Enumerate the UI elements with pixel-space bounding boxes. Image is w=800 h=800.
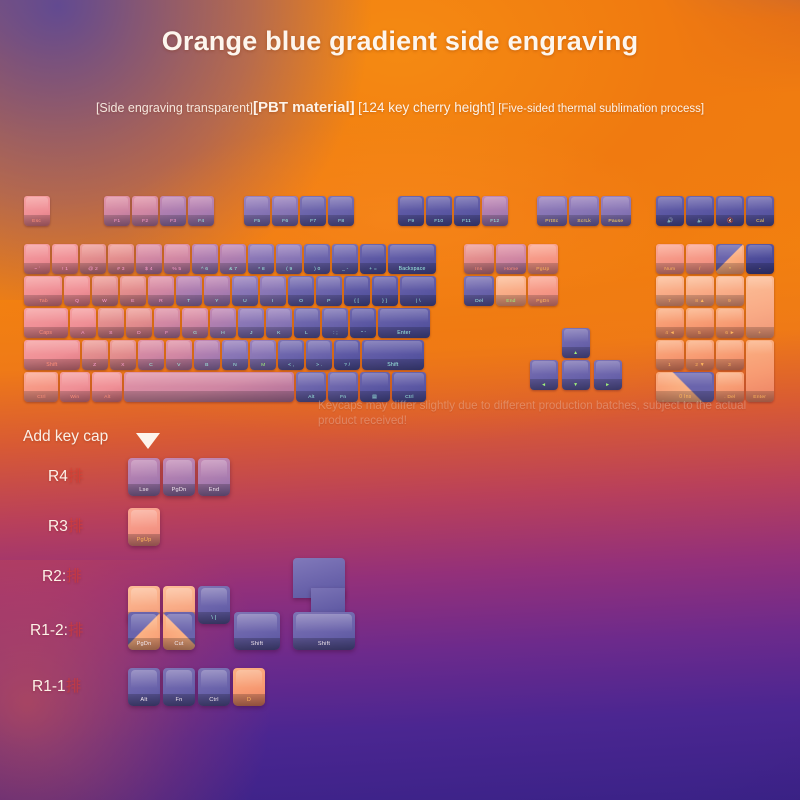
keycap-top-face — [364, 341, 422, 360]
keycap-caps: Caps — [24, 308, 68, 338]
keycap-top-face — [400, 197, 422, 216]
keycap-t: T — [176, 276, 202, 306]
keycap-legend: H — [221, 330, 225, 336]
keycap-legend: * — [729, 266, 731, 272]
keycap-top-face — [688, 341, 712, 360]
keycap-legend: PgUp — [137, 537, 152, 543]
keycap-front-engraving: W — [92, 295, 118, 306]
keycap-front-engraving: E — [120, 295, 146, 306]
keycap-legend: D — [137, 330, 141, 336]
keycap-legend: # 3 — [117, 266, 125, 272]
keycap-e: E — [120, 276, 146, 306]
keycap-l: L — [294, 308, 320, 338]
keycap-front-engraving: ) 0 — [304, 263, 330, 274]
key-row-esc: Esc — [24, 196, 52, 226]
keycap-top-face — [62, 373, 88, 392]
keycap-legend: Q — [75, 298, 79, 304]
keycap-top-face — [26, 277, 60, 296]
keycap-: / — [686, 244, 714, 274]
keycap-top-face — [571, 197, 597, 216]
keycap-2: @ 2 — [80, 244, 106, 274]
keycap-j: J — [238, 308, 264, 338]
keycap-top-face — [308, 341, 330, 360]
keycap-top-face — [352, 309, 374, 328]
keycap-top-face — [168, 341, 190, 360]
keycap-front-engraving: / — [686, 263, 714, 274]
keycap-arrow-down-icon: ▼ — [562, 360, 590, 390]
keycap-front-engraving: 5 — [686, 327, 714, 338]
keycap-top-face — [166, 614, 192, 638]
keycap-legend: Lse — [139, 487, 149, 493]
keycap-front-engraving: ( 9 — [276, 263, 302, 274]
keycap-front-engraving: - — [746, 263, 774, 274]
keycap-top-face — [390, 245, 434, 264]
keycap-top-face — [131, 460, 157, 484]
keycap-pgdn: PgDn — [528, 276, 558, 306]
keycap-front-engraving: & 7 — [220, 263, 246, 274]
keycap-: + = — [360, 244, 386, 274]
sample-row-label: R3排 — [48, 514, 83, 536]
keycap-legend: Shift — [46, 362, 57, 368]
keycap-win: Win — [60, 372, 90, 402]
keycap-top-face — [162, 197, 184, 216]
keycap-front-engraving: Ctrl — [198, 694, 230, 706]
keycap-front-engraving: F9 — [398, 215, 424, 226]
keycap-legend: W — [103, 298, 108, 304]
keycap-front-engraving: ► — [594, 379, 622, 390]
keycap-f10: F10 — [426, 196, 452, 226]
sample-keycap-group: AltFnCtrlD — [128, 668, 268, 706]
keycap-front-engraving: Shift — [293, 638, 355, 650]
keycap-legend: Shift — [387, 362, 398, 368]
keycap-legend: Alt — [104, 394, 110, 400]
keycap-: : ; — [322, 308, 348, 338]
keycap-top-face — [166, 588, 192, 612]
keycap-front-engraving: R — [148, 295, 174, 306]
keycap-top-face — [346, 277, 368, 296]
keycap-top-face — [394, 373, 424, 392]
keycap-enter: Enter — [746, 340, 774, 402]
sample-row-label-suffix: 排 — [66, 678, 82, 695]
keycap-top-face — [336, 341, 358, 360]
key-row-numpad-4: 12 ▼3 — [656, 340, 746, 370]
keycap-5: % 5 — [164, 244, 190, 274]
keycap-volume-down-icon: 🔉 — [686, 196, 714, 226]
keycap-top-face — [206, 277, 228, 296]
sample-keycap-fn: Fn — [163, 668, 195, 706]
keycap-front-engraving: F8 — [328, 215, 354, 226]
keycap-legend: F12 — [490, 218, 499, 224]
sample-keycap-pgdn: PgDn — [163, 458, 195, 496]
keycap-6: ^ 6 — [192, 244, 218, 274]
keycap-top-face — [201, 670, 227, 694]
key-row-nav-top: InsHomePgUp — [464, 244, 560, 274]
keycap-top-face — [298, 373, 324, 392]
keycap-del: Del — [464, 276, 494, 306]
keycap-: - — [746, 244, 774, 274]
keycap-front-engraving: Esc — [24, 215, 50, 226]
sample-row-label-suffix: 排 — [68, 468, 84, 485]
keycap-legend: ( 9 — [286, 266, 292, 272]
keycap-top-face — [334, 245, 356, 264]
keycap-front-engraving: 🔇 — [716, 215, 744, 226]
keycap-f6: F6 — [272, 196, 298, 226]
sample-keycap-shift: Shift — [234, 612, 280, 650]
keycap-c: C — [138, 340, 164, 370]
keycap-top-face — [484, 197, 506, 216]
keycap-v: V — [166, 340, 192, 370]
keycap-top-face — [138, 245, 160, 264]
keycap-top-face — [166, 670, 192, 694]
keycap-front-engraving: Q — [64, 295, 90, 306]
keycap-top-face — [222, 245, 244, 264]
keycap-legend: F — [165, 330, 168, 336]
keycap-front-engraving: Cut — [163, 638, 195, 650]
sample-keycap-ctrl: Ctrl — [198, 668, 230, 706]
keycap-top-face — [110, 245, 132, 264]
caret-down-icon[interactable] — [136, 433, 160, 449]
keycap-legend: Backspace — [398, 266, 425, 272]
keycap-front-engraving: 9 — [716, 295, 744, 306]
keycap-front-engraving: Enter — [378, 327, 430, 338]
keycap-front-engraving: Num — [656, 263, 684, 274]
keycap-top-face — [748, 197, 772, 216]
keycap-g: G — [182, 308, 208, 338]
keycap-legend: 8 ▲ — [695, 298, 705, 304]
keycap-enter: Enter — [378, 308, 430, 338]
keycap-front-engraving: @ 2 — [80, 263, 106, 274]
sample-keycap-d: D — [233, 668, 265, 706]
keycap-top-face — [94, 277, 116, 296]
keycap-top-face — [466, 277, 492, 296]
add-keycap-label: Add key cap — [23, 428, 108, 446]
keycap-front-engraving: F2 — [132, 215, 158, 226]
keycap-top-face — [106, 197, 128, 216]
keycap-legend: C — [149, 362, 153, 368]
keycap-legend: I — [272, 298, 274, 304]
keycap-3: # 3 — [108, 244, 134, 274]
keycap-front-engraving: ? / — [334, 359, 360, 370]
keycap-top-face — [131, 588, 157, 612]
keycap-front-engraving: C — [138, 359, 164, 370]
keycap-legend: O — [299, 298, 303, 304]
keycap-front-engraving: Del — [464, 295, 494, 306]
keycap-top-face — [250, 245, 272, 264]
keycap-legend: { [ — [354, 298, 359, 304]
keycap-legend: * 8 — [258, 266, 265, 272]
keycap-top-face — [66, 277, 88, 296]
keycap-top-face — [252, 341, 274, 360]
keycap-7: & 7 — [220, 244, 246, 274]
keycap-front-engraving: Shift — [24, 359, 80, 370]
keycap-2: 2 ▼ — [686, 340, 714, 370]
keycap-: " ' — [350, 308, 376, 338]
keycap-top-face — [718, 373, 742, 392]
keycap-: ? / — [334, 340, 360, 370]
keycap-front-engraving: Pause — [601, 215, 631, 226]
keycap-front-engraving: PrtSc — [537, 215, 567, 226]
keycap-legend: < , — [288, 362, 294, 368]
keycap-front-engraving: I — [260, 295, 286, 306]
keycap-top-face — [532, 361, 556, 380]
keycap-top-face — [126, 373, 292, 392]
keycap-front-engraving: Tab — [24, 295, 62, 306]
keycap-legend: M — [261, 362, 265, 368]
keycap-x: X — [110, 340, 136, 370]
keycap-top-face — [131, 614, 157, 638]
keycap-top-face — [194, 245, 216, 264]
keycap-top-face — [278, 245, 300, 264]
keycap-f9: F9 — [398, 196, 424, 226]
keycap-front-engraving: F — [154, 327, 180, 338]
keycap-shift: Shift — [24, 340, 80, 370]
keycap-top-face — [234, 277, 256, 296]
keycap-top-face — [262, 277, 284, 296]
keycap-front-engraving: 2 ▼ — [686, 359, 714, 370]
sample-keycap-group: LsePgDnEnd — [128, 458, 233, 496]
keycap-front-engraving: < , — [278, 359, 304, 370]
keycap-m: M — [250, 340, 276, 370]
keycap-legend: E — [131, 298, 135, 304]
keycap-top-face — [688, 277, 712, 296]
keycap-legend: 3 — [729, 362, 732, 368]
keycap-top-face — [190, 197, 212, 216]
key-row-numbers: ~ `! 1@ 2# 3$ 4% 5^ 6& 7* 8( 9) 0_ -+ =B… — [24, 244, 438, 274]
keycap-legend: ? / — [344, 362, 350, 368]
keycap-: } ] — [372, 276, 398, 306]
keycap-legend: F4 — [198, 218, 204, 224]
keycap-front-engraving: Z — [82, 359, 108, 370]
sample-keycap-pgdn: PgDn — [128, 612, 160, 650]
keycap-arrow-up-icon: ▲ — [562, 328, 590, 358]
keycap-f3: F3 — [160, 196, 186, 226]
keycap-front-engraving: N — [222, 359, 248, 370]
keycap-front-engraving: ▲ — [562, 347, 590, 358]
sample-keycap-group: PgDnCutShiftShift — [128, 612, 358, 650]
key-numpad-plus: + — [746, 276, 776, 338]
keycap-top-face — [688, 197, 712, 216]
keycap-legend: % 5 — [172, 266, 181, 272]
keycap-front-engraving: Shift — [234, 638, 280, 650]
key-row-numpad-3: 4 ◄56 ► — [656, 308, 746, 338]
keycap-legend: Tab — [39, 298, 48, 304]
sample-keycap-cut: Cut — [163, 612, 195, 650]
keycap-front-engraving: F12 — [482, 215, 508, 226]
keycap-front-engraving: PgDn — [128, 638, 160, 650]
keycap-top-face — [140, 341, 162, 360]
keycap-top-face — [166, 245, 188, 264]
keycap-legend: _ - — [342, 266, 348, 272]
keycap-front-engraving: PgUp — [128, 534, 160, 546]
keycap-front-engraving — [124, 391, 294, 402]
keycap-front-engraving: $ 4 — [136, 263, 162, 274]
keycap-legend: 9 — [729, 298, 732, 304]
keycap-: < , — [278, 340, 304, 370]
keycap-legend: End — [209, 487, 220, 493]
keycap-front-engraving: F3 — [160, 215, 186, 226]
keycap-legend: S — [109, 330, 113, 336]
keycap-front-engraving: Fn — [163, 694, 195, 706]
keycap-top-face — [564, 329, 588, 348]
keycap-top-face — [196, 341, 218, 360]
keycap-top-face — [131, 510, 157, 534]
keycap-top-face — [658, 245, 682, 264]
keycap-tab: Tab — [24, 276, 62, 306]
sample-row-label: R1-2:排 — [30, 618, 83, 640]
keycap-top-face — [184, 309, 206, 328]
keycap-0: ) 0 — [304, 244, 330, 274]
keycap-f: F — [154, 308, 180, 338]
keycap-front-engraving: * — [716, 263, 744, 274]
keycap-legend: Shift — [251, 641, 263, 647]
keycap-front-engraving: " ' — [350, 327, 376, 338]
keycap-front-engraving: 7 — [656, 295, 684, 306]
keycap-9: 9 — [716, 276, 744, 306]
keycap-front-engraving: T — [176, 295, 202, 306]
keycap-front-engraving: : ; — [322, 327, 348, 338]
keycap-top-face — [128, 309, 150, 328]
keycap-legend: ) 0 — [314, 266, 320, 272]
keycap-blank — [124, 372, 294, 402]
keycap-top-face — [658, 341, 682, 360]
keycap-top-face — [26, 373, 56, 392]
keycap-legend: ~ ` — [34, 266, 41, 272]
keycap-esc: Esc — [24, 196, 50, 226]
keycap-top-face — [26, 341, 78, 360]
keycap-legend: } ] — [382, 298, 387, 304]
keycap-f2: F2 — [132, 196, 158, 226]
keycap-front-engraving: 6 ► — [716, 327, 744, 338]
keycap-front-engraving: Lse — [128, 484, 160, 496]
keycap-top-face — [268, 309, 290, 328]
keycap-legend: Esc — [33, 218, 42, 224]
keycap-front-engraving: Shift — [362, 359, 424, 370]
keycap-legend: F7 — [310, 218, 316, 224]
keycap-front-engraving: 8 ▲ — [686, 295, 714, 306]
keycap-r: R — [148, 276, 174, 306]
keycap-front-engraving: F1 — [104, 215, 130, 226]
keycap-legend: A — [81, 330, 85, 336]
keycap-front-engraving: PgDn — [528, 295, 558, 306]
sample-keycap-group: PgUp — [128, 508, 163, 546]
key-row-numpad-1: Num/*- — [656, 244, 776, 274]
keycap-front-engraving: + — [746, 327, 774, 338]
keycap-legend: F6 — [282, 218, 288, 224]
keycap-front-engraving: * 8 — [248, 263, 274, 274]
keycap-top-face — [131, 670, 157, 694]
keycap-front-engraving: 🔉 — [686, 215, 714, 226]
keycap-legend: PgDn — [536, 298, 549, 304]
keycap-top-face — [240, 309, 262, 328]
keycap-top-face — [718, 197, 742, 216]
keycap-top-face — [246, 197, 268, 216]
keycap-1: 1 — [656, 340, 684, 370]
keycap-k: K — [266, 308, 292, 338]
keycap-front-engraving: J — [238, 327, 264, 338]
keycap-front-engraving: 1 — [656, 359, 684, 370]
keycap-volume-mute-icon: 🔇 — [716, 196, 744, 226]
keycap-legend: PgDn — [172, 487, 187, 493]
keycap-8: 8 ▲ — [686, 276, 714, 306]
keycap-top-face — [100, 309, 122, 328]
keycap-legend: Ctrl — [37, 394, 46, 400]
keycap-legend: + — [758, 330, 761, 336]
keycap-legend: G — [193, 330, 197, 336]
keycap-f4: F4 — [188, 196, 214, 226]
keycap-legend: : ; — [333, 330, 338, 336]
keycap-legend: 2 ▼ — [695, 362, 705, 368]
keycap-calculator-icon: Cal — [746, 196, 774, 226]
keycap-top-face — [166, 460, 192, 484]
keycap-legend: F11 — [463, 218, 472, 224]
keycap-: { [ — [344, 276, 370, 306]
keycap-top-face — [718, 309, 742, 328]
keycap-legend: Cal — [756, 218, 764, 224]
keycap-legend: Z — [93, 362, 96, 368]
keycap-top-face — [362, 245, 384, 264]
keycap-legend: End — [506, 298, 515, 304]
keycap-legend: PrtSc — [545, 218, 558, 224]
keycap-legend: F10 — [434, 218, 443, 224]
keycap-legend: Y — [215, 298, 219, 304]
keycap-front-engraving: | \ — [400, 295, 436, 306]
keycap-front-engraving: L — [294, 327, 320, 338]
keycap-1: ! 1 — [52, 244, 78, 274]
keycap-legend: > . — [316, 362, 322, 368]
keycap-front-engraving: { [ — [344, 295, 370, 306]
keycap-legend: ▲ — [573, 350, 578, 356]
keycap-h: H — [210, 308, 236, 338]
keycap-front-engraving: G — [182, 327, 208, 338]
keycap-8: * 8 — [248, 244, 274, 274]
keycap-pause: Pause — [601, 196, 631, 226]
keycap-top-face — [688, 309, 712, 328]
keycap-legend: 6 ► — [725, 330, 735, 336]
keycap-legend: + = — [369, 266, 377, 272]
keycap-top-face — [280, 341, 302, 360]
keycap-legend: X — [121, 362, 125, 368]
keycap-top-face — [224, 341, 246, 360]
keycap-legend: Home — [504, 266, 518, 272]
keycap-front-engraving: # 3 — [108, 263, 134, 274]
keycap-f1: F1 — [104, 196, 130, 226]
keycap-legend: Win — [70, 394, 79, 400]
key-row-qwerty: TabQWERTYUIOP{ [} ]| \ — [24, 276, 438, 306]
keycap-home: Home — [496, 244, 526, 274]
keycap-front-engraving: End — [198, 484, 230, 496]
keycap-legend: ^ 6 — [201, 266, 208, 272]
keycap-legend: B — [205, 362, 209, 368]
keycap-front-engraving: > . — [306, 359, 332, 370]
keycap-front-engraving: ^ 6 — [192, 263, 218, 274]
keycap-n: N — [222, 340, 248, 370]
keycap-b: B — [194, 340, 220, 370]
key-row-f1-f4: F1F2F3F4 — [104, 196, 216, 226]
keycap-front-engraving: V — [166, 359, 192, 370]
keycap-top-face — [26, 245, 48, 264]
keycap-front-engraving: A — [70, 327, 96, 338]
keycap-top-face — [748, 341, 772, 360]
keycap-top-face — [603, 197, 629, 216]
keycap-legend: F9 — [408, 218, 414, 224]
keycap-legend: Ins — [475, 266, 482, 272]
keycap-front-engraving: Caps — [24, 327, 68, 338]
keycap-a: A — [70, 308, 96, 338]
keycap-legend: F5 — [254, 218, 260, 224]
key-arrow-left: ◄ — [530, 360, 560, 390]
keycap-top-face — [498, 277, 524, 296]
keycap-front-engraving: PgUp — [528, 263, 558, 274]
